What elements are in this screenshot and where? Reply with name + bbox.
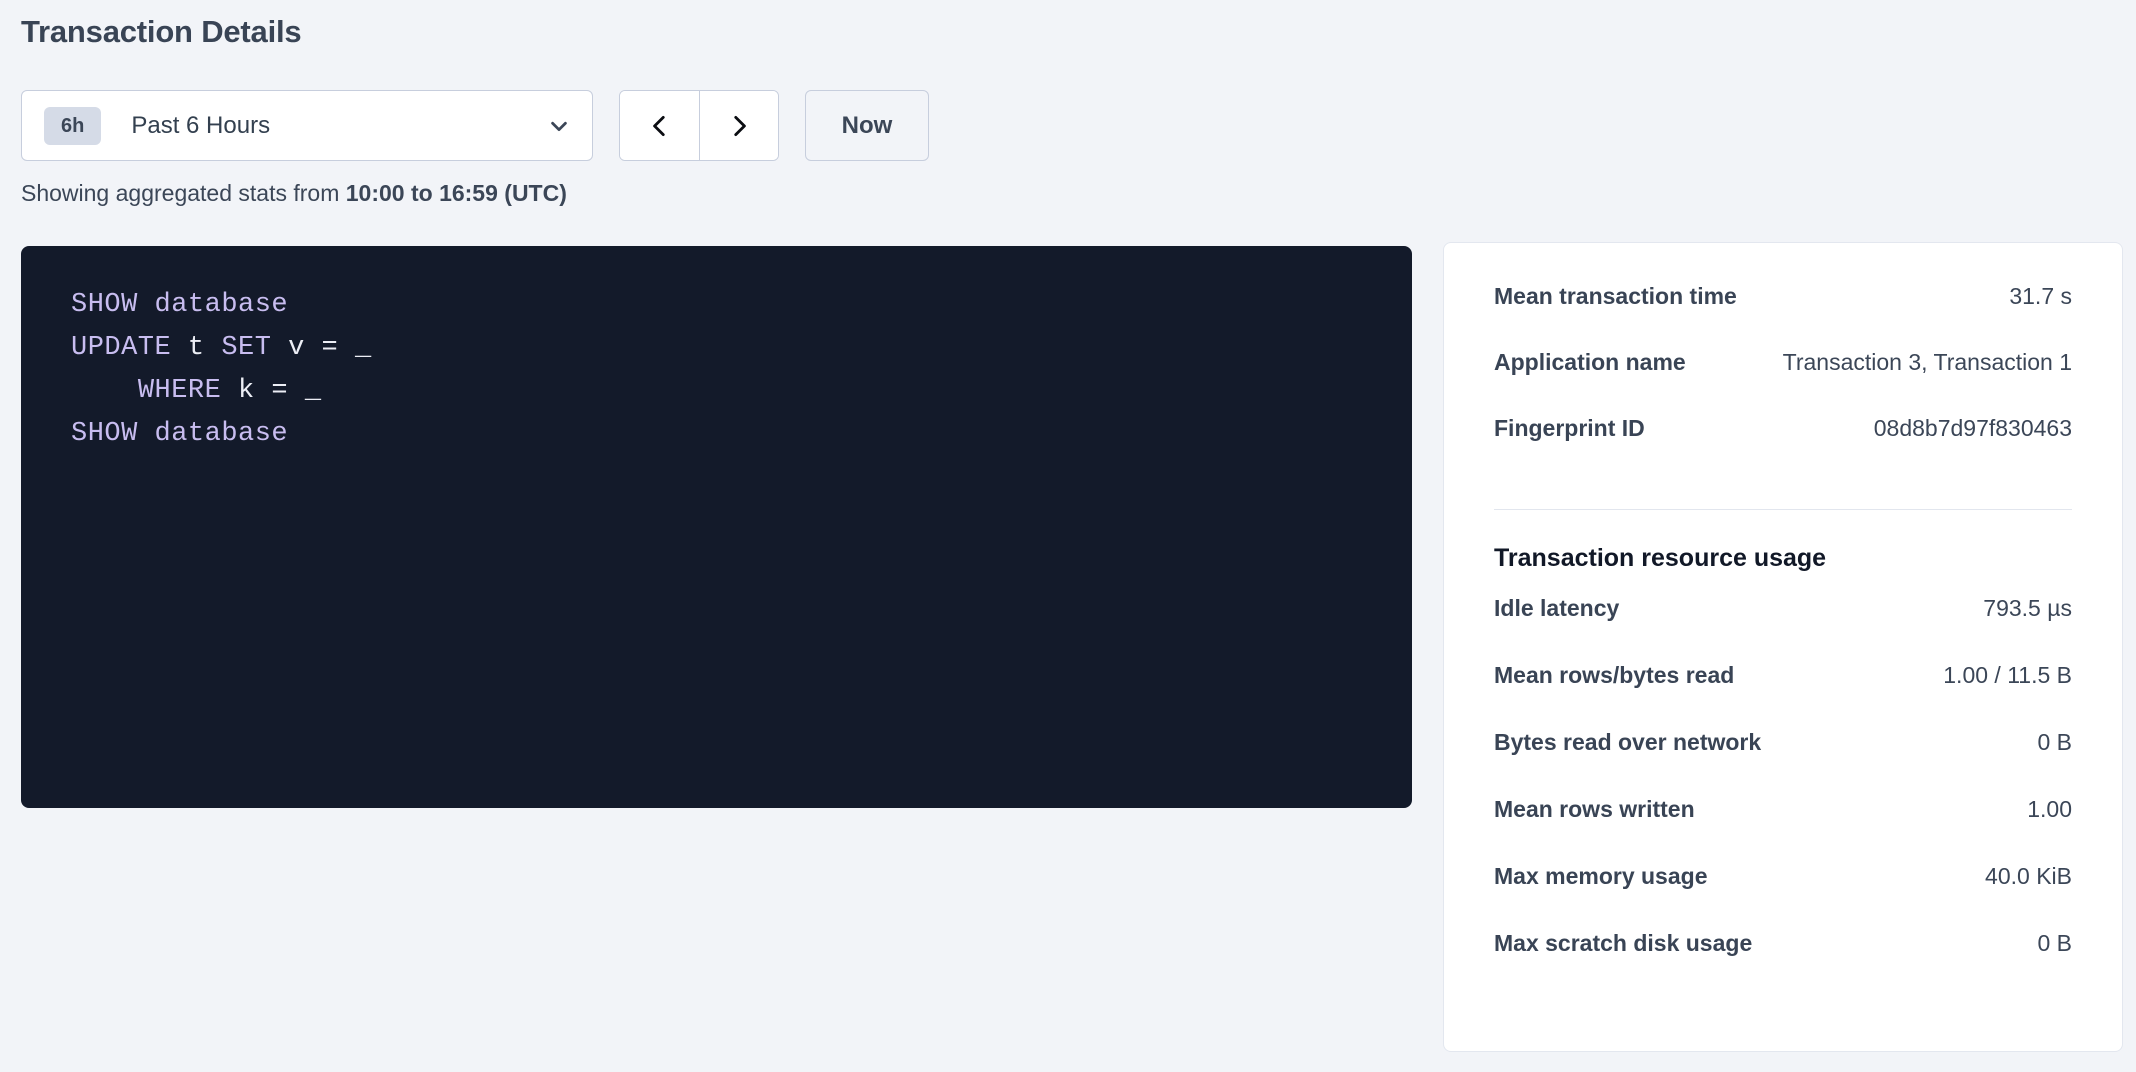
stat-key: Mean transaction time [1494, 283, 1737, 310]
code-line: UPDATE t SET v = _ [71, 327, 1362, 370]
next-period-button[interactable] [699, 91, 778, 160]
stat-value: Transaction 3, Transaction 1 [1783, 349, 2072, 376]
stat-value: 08d8b7d97f830463 [1874, 415, 2072, 442]
time-range-label: Past 6 Hours [131, 112, 548, 140]
stat-value: 31.7 s [2009, 283, 2072, 310]
stat-row: Fingerprint ID08d8b7d97f830463 [1494, 415, 2072, 481]
stat-key: Mean rows/bytes read [1494, 662, 1734, 689]
stat-row: Bytes read over network0 B [1494, 729, 2072, 796]
stat-row: Idle latency793.5 µs [1494, 595, 2072, 662]
stat-row: Max memory usage40.0 KiB [1494, 863, 2072, 930]
transaction-details-page: Transaction Details 6h Past 6 Hours Now … [0, 0, 2136, 1072]
sql-identifier: k = _ [221, 376, 321, 406]
stat-row: Mean transaction time31.7 s [1494, 283, 2072, 349]
time-range-badge: 6h [44, 107, 101, 145]
stat-key: Fingerprint ID [1494, 415, 1645, 442]
stat-row: Application nameTransaction 3, Transacti… [1494, 349, 2072, 415]
stat-key: Bytes read over network [1494, 729, 1761, 756]
code-line: SHOW database [71, 413, 1362, 456]
stat-key: Application name [1494, 349, 1686, 376]
statement-code-panel: SHOW databaseUPDATE t SET v = _ WHERE k … [21, 246, 1412, 808]
sql-identifier [71, 376, 138, 406]
time-range-toolbar: 6h Past 6 Hours Now [21, 90, 929, 161]
sql-keyword: WHERE [138, 376, 222, 406]
code-line: WHERE k = _ [71, 370, 1362, 413]
stat-value: 1.00 / 11.5 B [1943, 662, 2072, 689]
stat-key: Idle latency [1494, 595, 1619, 622]
sql-keyword: SHOW database [71, 290, 288, 320]
stat-value: 40.0 KiB [1985, 863, 2072, 890]
chevron-down-icon [548, 115, 570, 137]
sql-keyword: SHOW database [71, 419, 288, 449]
range-note-prefix: Showing aggregated stats from [21, 180, 346, 206]
sql-identifier: v = _ [271, 333, 371, 363]
resource-usage-title: Transaction resource usage [1494, 544, 2072, 573]
range-note-emphasis: 10:00 to 16:59 (UTC) [346, 180, 567, 206]
stat-key: Max memory usage [1494, 863, 1707, 890]
sql-identifier: t [171, 333, 221, 363]
transaction-stats-card: Mean transaction time31.7 sApplication n… [1443, 242, 2123, 1052]
stat-row: Mean rows written1.00 [1494, 796, 2072, 863]
previous-period-button[interactable] [620, 91, 699, 160]
stat-value: 0 B [2037, 930, 2072, 957]
resource-usage-list: Idle latency793.5 µsMean rows/bytes read… [1494, 595, 2072, 997]
stat-value: 793.5 µs [1983, 595, 2072, 622]
code-lines: SHOW databaseUPDATE t SET v = _ WHERE k … [71, 284, 1362, 456]
aggregation-range-note: Showing aggregated stats from 10:00 to 1… [21, 180, 567, 207]
stat-value: 0 B [2037, 729, 2072, 756]
now-button[interactable]: Now [805, 90, 929, 161]
time-nav-group [619, 90, 779, 161]
stat-row: Max scratch disk usage0 B [1494, 930, 2072, 997]
sql-keyword: SET [221, 333, 271, 363]
card-divider [1494, 509, 2072, 510]
stat-key: Max scratch disk usage [1494, 930, 1752, 957]
stat-key: Mean rows written [1494, 796, 1695, 823]
summary-stats-list: Mean transaction time31.7 sApplication n… [1494, 283, 2072, 481]
time-range-dropdown[interactable]: 6h Past 6 Hours [21, 90, 593, 161]
stat-value: 1.00 [2027, 796, 2072, 823]
sql-keyword: UPDATE [71, 333, 171, 363]
page-title: Transaction Details [21, 14, 301, 50]
code-line: SHOW database [71, 284, 1362, 327]
stat-row: Mean rows/bytes read1.00 / 11.5 B [1494, 662, 2072, 729]
